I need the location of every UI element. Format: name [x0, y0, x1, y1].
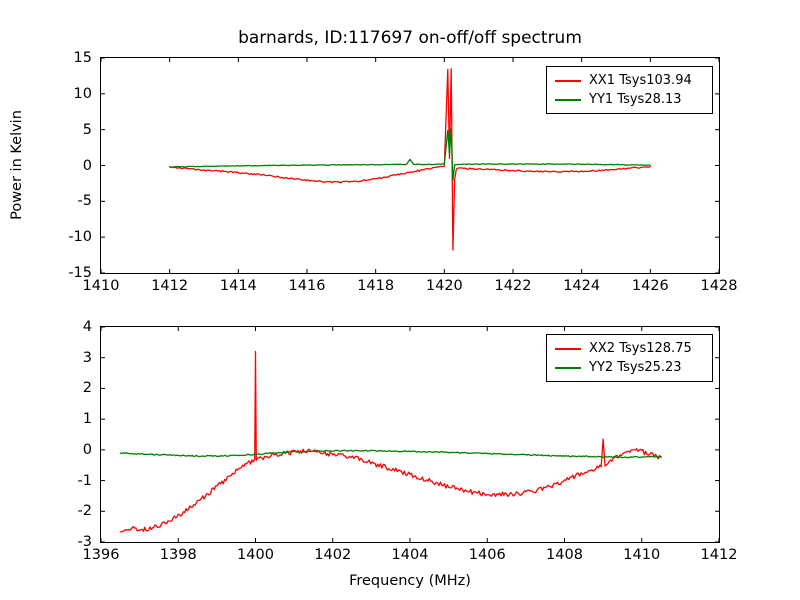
legend-item[interactable]: YY2 Tsys25.23 [553, 358, 706, 377]
y-tick-label: -2 [78, 503, 92, 519]
x-tick-label: 1412 [151, 278, 188, 294]
legend-label-xx2: XX2 Tsys128.75 [589, 341, 692, 356]
x-tick-label: 1416 [289, 278, 326, 294]
y-tick-label: -15 [68, 265, 92, 281]
legend-item[interactable]: XX2 Tsys128.75 [553, 339, 706, 358]
x-tick-label: 1408 [546, 547, 583, 563]
y-tick-label: 0 [83, 442, 92, 458]
x-tick-label: 1412 [701, 547, 738, 563]
y-tick-label: -5 [78, 193, 92, 209]
legend-top: XX1 Tsys103.94 YY1 Tsys28.13 [546, 66, 713, 114]
y-tick-label: 10 [74, 86, 92, 102]
x-tick-label: 1402 [314, 547, 351, 563]
legend-label-yy1: YY1 Tsys28.13 [589, 92, 682, 107]
y-axis-label-top: Power in Kelvin [9, 110, 25, 220]
x-tick-label: 1398 [160, 547, 197, 563]
legend-bottom: XX2 Tsys128.75 YY2 Tsys25.23 [546, 334, 713, 382]
x-tick-label: 1400 [237, 547, 274, 563]
y-tick-label: 0 [83, 158, 92, 174]
y-tick-label: 2 [83, 380, 92, 396]
y-tick-label: 4 [83, 319, 92, 335]
y-tick-label: -1 [78, 473, 92, 489]
x-tick-label: 1422 [495, 278, 532, 294]
y-tick-label: 15 [74, 50, 92, 66]
x-tick-label: 1418 [357, 278, 394, 294]
y-tick-label: -3 [78, 534, 92, 550]
legend-item[interactable]: XX1 Tsys103.94 [553, 71, 706, 90]
legend-label-yy2: YY2 Tsys25.23 [589, 360, 682, 375]
y-tick-label: 3 [83, 350, 92, 366]
x-tick-label: 1410 [623, 547, 660, 563]
y-tick-label: -10 [68, 229, 92, 245]
x-tick-label: 1406 [469, 547, 506, 563]
series-line [120, 450, 661, 457]
legend-color-swatch-yy2 [555, 367, 581, 369]
x-tick-label: 1424 [563, 278, 600, 294]
legend-item[interactable]: YY1 Tsys28.13 [553, 90, 706, 109]
x-tick-label: 1426 [632, 278, 669, 294]
figure-canvas: barnards, ID:117697 on-off/off spectrum … [0, 0, 800, 600]
legend-label-xx1: XX1 Tsys103.94 [589, 73, 692, 88]
legend-color-swatch-yy1 [555, 99, 581, 101]
y-tick-label: 1 [83, 411, 92, 427]
y-tick-label: 5 [83, 122, 92, 138]
x-axis-label-bottom: Frequency (MHz) [349, 573, 471, 589]
legend-color-swatch-xx1 [555, 80, 581, 82]
x-tick-label: 1428 [701, 278, 738, 294]
x-tick-label: 1404 [392, 547, 429, 563]
x-tick-label: 1420 [426, 278, 463, 294]
page-title: barnards, ID:117697 on-off/off spectrum [100, 28, 720, 48]
legend-color-swatch-xx2 [555, 348, 581, 350]
x-tick-label: 1414 [220, 278, 257, 294]
